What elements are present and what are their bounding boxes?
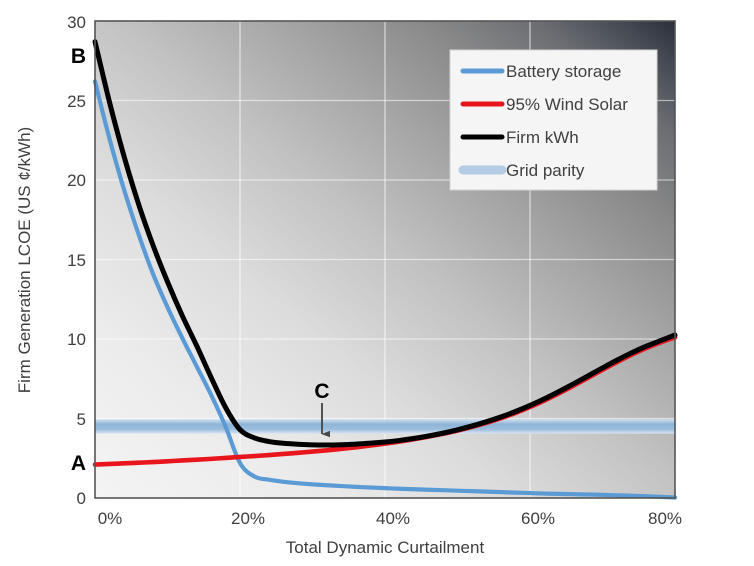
- y-tick-25: 25: [67, 92, 86, 111]
- legend-label-battery-storage: Battery storage: [506, 62, 621, 81]
- x-tick-0: 0%: [98, 509, 123, 528]
- legend-label-95-wind-solar: 95% Wind Solar: [506, 95, 628, 114]
- x-axis-tick-labels: 0% 20% 40% 60% 80%: [98, 509, 682, 528]
- annotation-c-label: C: [314, 380, 329, 403]
- y-tick-5: 5: [77, 410, 86, 429]
- legend-label-grid-parity: Grid parity: [506, 161, 585, 180]
- y-axis-tick-labels: 0 5 10 15 20 25 30: [67, 13, 86, 508]
- x-tick-60: 60%: [521, 509, 555, 528]
- x-tick-40: 40%: [376, 509, 410, 528]
- legend: Battery storage 95% Wind Solar Firm kWh …: [450, 50, 657, 190]
- y-axis-title: Firm Generation LCOE (US ¢/kWh): [15, 127, 34, 393]
- chart-container: C 0 5 10 15 20 25 30 B A 0% 20% 40% 60% …: [0, 0, 754, 566]
- x-tick-20: 20%: [231, 509, 265, 528]
- annotation-b-label: B: [71, 45, 86, 68]
- y-tick-30: 30: [67, 13, 86, 32]
- legend-label-firm-kwh: Firm kWh: [506, 128, 579, 147]
- y-tick-20: 20: [67, 171, 86, 190]
- y-tick-0: 0: [77, 489, 86, 508]
- y-tick-15: 15: [67, 251, 86, 270]
- y-tick-10: 10: [67, 330, 86, 349]
- x-tick-80: 80%: [648, 509, 682, 528]
- lcoe-curtailment-chart: C 0 5 10 15 20 25 30 B A 0% 20% 40% 60% …: [0, 0, 754, 566]
- x-axis-title: Total Dynamic Curtailment: [286, 538, 485, 557]
- annotation-a-label: A: [71, 452, 86, 475]
- grid-parity-band: [95, 419, 675, 433]
